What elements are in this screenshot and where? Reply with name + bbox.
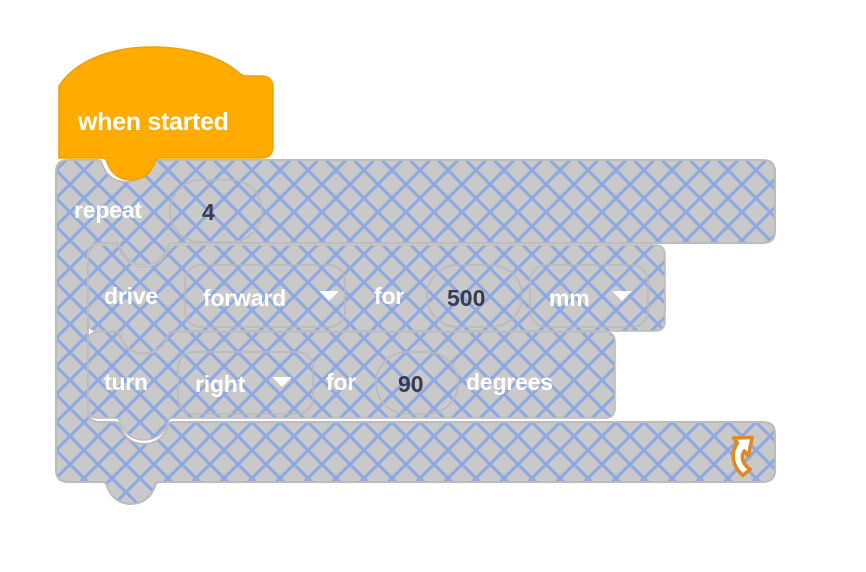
repeat-block-header[interactable] [56, 160, 775, 243]
drive-block[interactable] [88, 245, 665, 331]
block-script-stack[interactable]: when started repeat 4 drive forward for … [0, 0, 866, 572]
when-started-hat-block[interactable] [59, 47, 273, 158]
repeat-block-footer[interactable] [56, 422, 775, 482]
workspace-canvas[interactable]: when started repeat 4 drive forward for … [0, 0, 866, 572]
turn-block[interactable] [88, 332, 615, 418]
